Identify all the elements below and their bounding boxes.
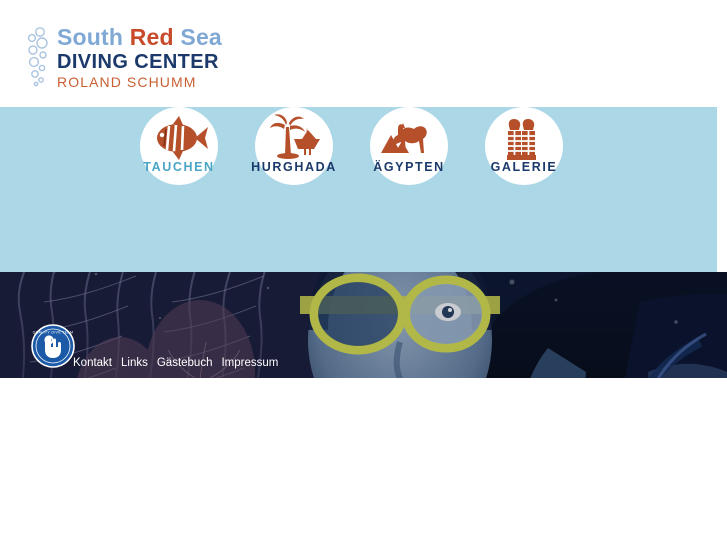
site-logo[interactable]: South Red Sea DIVING CENTER ROLAND SCHUM… <box>27 26 267 88</box>
nav-item-aegypten[interactable]: ÄGYPTEN <box>370 107 448 185</box>
nav-label-tauchen: TAUCHEN <box>118 160 240 174</box>
ok-hand-badge-icon[interactable]: QUALITY DIVE TEAM <box>31 324 75 368</box>
logo-line-diving-center: DIVING CENTER <box>57 51 267 73</box>
camel-pyramid-icon <box>379 113 439 163</box>
footer-link-impressum[interactable]: Impressum <box>221 357 278 369</box>
statues-icon <box>494 113 554 163</box>
bubbles-icon <box>27 26 55 88</box>
nav-item-galerie[interactable]: GALERIE <box>485 107 563 185</box>
logo-south: South <box>57 24 130 50</box>
main-navigation: TAUCHEN <box>140 107 580 185</box>
nav-label-aegypten: ÄGYPTEN <box>348 160 470 174</box>
footer-link-gaestebuch[interactable]: Gästebuch <box>157 357 213 369</box>
page-root: South Red Sea DIVING CENTER ROLAND SCHUM… <box>0 0 727 545</box>
nav-label-galerie: GALERIE <box>463 160 585 174</box>
nav-band-right-gutter <box>717 107 727 272</box>
footer-links: KontaktLinksGästebuchImpressum <box>73 355 333 372</box>
fish-icon <box>149 113 209 163</box>
footer-link-links[interactable]: Links <box>121 357 148 369</box>
footer-link-kontakt[interactable]: Kontakt <box>73 357 112 369</box>
nav-label-hurghada: HURGHADA <box>233 160 355 174</box>
page-body-empty <box>0 378 727 545</box>
logo-line-roland-schumm: ROLAND SCHUMM <box>57 73 267 91</box>
navigation-band: TAUCHEN <box>0 107 717 272</box>
logo-wordmark: South Red Sea DIVING CENTER ROLAND SCHUM… <box>57 24 267 91</box>
svg-text:QUALITY DIVE TEAM: QUALITY DIVE TEAM <box>33 331 74 335</box>
nav-item-tauchen[interactable]: TAUCHEN <box>140 107 218 185</box>
logo-line-south-red-sea: South Red Sea <box>57 24 267 51</box>
palm-boat-icon <box>264 113 324 163</box>
logo-sea: Sea <box>174 24 222 50</box>
nav-item-hurghada[interactable]: HURGHADA <box>255 107 333 185</box>
logo-red: Red <box>130 24 174 50</box>
site-header: South Red Sea DIVING CENTER ROLAND SCHUM… <box>0 0 727 107</box>
